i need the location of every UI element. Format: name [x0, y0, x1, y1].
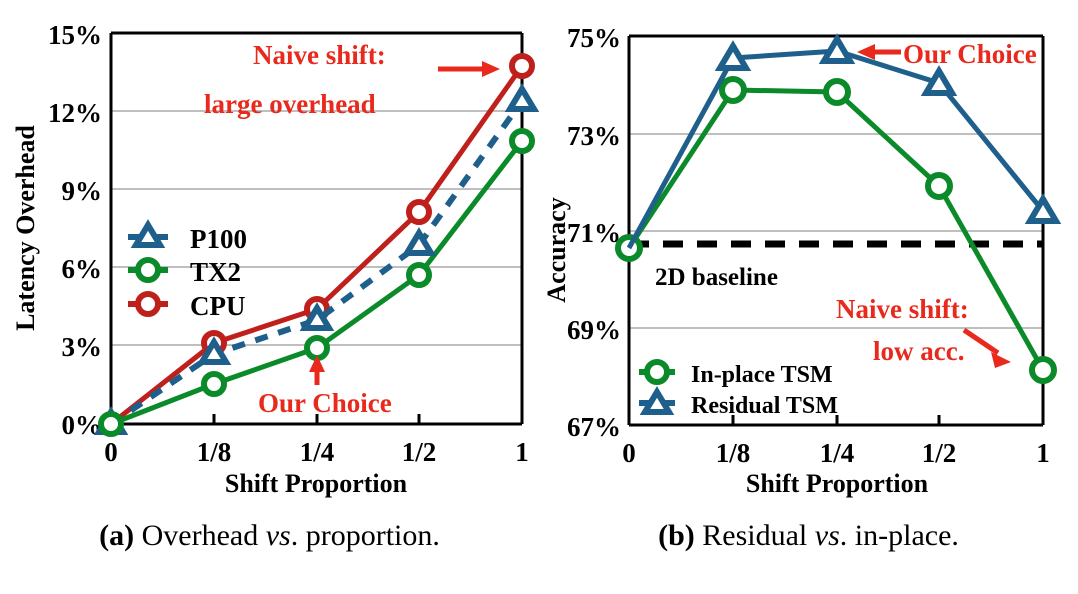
caption-a-text-1: Overhead — [142, 519, 259, 552]
x-tick-label: 1/4 — [820, 438, 855, 468]
chart-panel-b: 75% 73% 71% 69% 67% 0 1/8 1/4 1/2 1 Shif… — [539, 0, 1078, 594]
x-tick-label: 1/2 — [402, 437, 437, 467]
annotation-line-1: Our Choice — [903, 39, 1037, 69]
x-tick-label: 0 — [104, 437, 118, 467]
x-tick-label: 1/8 — [197, 437, 232, 467]
caption-b-vs: vs — [815, 519, 840, 552]
y-tick-labels-a: 15% 12% 9% 6% 3% 0% — [48, 20, 102, 440]
x-tick-labels-b: 0 1/8 1/4 1/2 1 — [622, 438, 1050, 468]
x-tick-label: 1 — [515, 437, 529, 467]
annotation-line-1: Naive shift: — [836, 294, 969, 324]
y-tick-label: 12% — [48, 98, 102, 128]
legend-b: In-place TSM Residual TSM — [639, 362, 838, 419]
data-point-tx2 — [512, 131, 532, 151]
legend-item-tx2: TX2 — [128, 257, 241, 287]
data-point-p100 — [510, 89, 534, 109]
legend-label-in-place-tsm: In-place TSM — [691, 362, 833, 388]
y-tick-label: 9% — [62, 176, 103, 206]
chart-panel-a: 15% 12% 9% 6% 3% 0% 0 1/8 1/4 1/2 1 Shif… — [0, 0, 539, 594]
data-point-tx2 — [409, 265, 429, 285]
annotation-line-1: Naive shift: — [253, 40, 386, 70]
annotation-naive-shift-acc: Naive shift: low acc. — [836, 294, 1011, 368]
data-point-in-place — [826, 81, 848, 103]
data-point-in-place — [722, 79, 744, 101]
legend-item-cpu: CPU — [128, 291, 246, 321]
data-point-tx2 — [101, 414, 121, 434]
data-point-residual — [926, 71, 952, 93]
x-axis-title-a: Shift Proportion — [225, 469, 408, 498]
y-tick-labels-b: 75% 73% 71% 69% 67% — [567, 23, 621, 442]
annotation-line-2: large overhead — [204, 89, 376, 119]
arrow-down-right-icon — [964, 330, 1011, 368]
y-tick-label: 75% — [567, 23, 621, 53]
y-tick-label: 3% — [62, 332, 103, 362]
legend-label-cpu: CPU — [190, 291, 246, 321]
chart-b-svg: 75% 73% 71% 69% 67% 0 1/8 1/4 1/2 1 Shif… — [539, 0, 1078, 510]
legend-label-residual-tsm: Residual TSM — [691, 393, 838, 419]
annotation-naive-shift-overhead: Naive shift: large overhead — [204, 40, 500, 119]
y-tick-label: 71% — [567, 218, 621, 248]
caption-b-text-2: . in-place. — [840, 519, 959, 552]
x-tick-label: 1/2 — [922, 438, 957, 468]
legend-item-in-place-tsm: In-place TSM — [639, 362, 833, 388]
y-tick-label: 6% — [62, 254, 103, 284]
caption-a-text-2: . proportion. — [291, 519, 440, 552]
y-tick-label: 73% — [567, 121, 621, 151]
y-tick-label: 0% — [62, 410, 103, 440]
legend-a: P100 TX2 CPU — [128, 224, 247, 321]
data-point-in-place — [1032, 359, 1054, 381]
y-tick-label: 15% — [48, 20, 102, 50]
annotation-line-1: Our Choice — [258, 388, 392, 418]
reference-line-label: 2D baseline — [655, 264, 778, 291]
series-residual-tsm — [629, 39, 1056, 248]
caption-b-label: (b) — [658, 519, 695, 552]
legend-item-residual-tsm: Residual TSM — [639, 392, 838, 419]
x-tick-label: 1/4 — [300, 437, 335, 467]
caption-a: (a) Overhead vs. proportion. — [0, 519, 539, 553]
arrow-right-icon — [438, 61, 500, 77]
chart-a-svg: 15% 12% 9% 6% 3% 0% 0 1/8 1/4 1/2 1 Shif… — [0, 0, 539, 510]
x-tick-label: 1/8 — [716, 438, 751, 468]
legend-label-tx2: TX2 — [190, 257, 241, 287]
y-tick-label: 69% — [567, 315, 621, 345]
data-point-cpu — [512, 56, 532, 76]
y-axis-title-a: Latency Overhead — [11, 125, 40, 331]
data-point-in-place — [928, 175, 950, 197]
data-point-residual — [824, 39, 850, 61]
y-axis-title-b: Accuracy — [542, 197, 571, 302]
data-point-tx2 — [204, 374, 224, 394]
x-axis-title-b: Shift Proportion — [746, 469, 929, 498]
reference-line-2d-baseline: 2D baseline — [629, 244, 1043, 291]
figure-root: 15% 12% 9% 6% 3% 0% 0 1/8 1/4 1/2 1 Shif… — [0, 0, 1078, 594]
caption-a-vs: vs — [266, 519, 291, 552]
caption-b-text-1: Residual — [702, 519, 807, 552]
legend-item-p100: P100 — [128, 224, 247, 254]
caption-b: (b) Residual vs. in-place. — [539, 519, 1078, 553]
data-point-residual — [720, 46, 746, 68]
caption-a-label: (a) — [99, 519, 134, 552]
x-tick-label: 0 — [622, 438, 636, 468]
annotation-line-2: low acc. — [873, 336, 964, 366]
x-tick-label: 1 — [1036, 438, 1050, 468]
y-tick-label: 67% — [567, 412, 621, 442]
annotation-our-choice-a: Our Choice — [258, 355, 392, 418]
data-point-cpu — [409, 202, 429, 222]
legend-label-p100: P100 — [190, 224, 247, 254]
x-tick-labels-a: 0 1/8 1/4 1/2 1 — [104, 437, 529, 467]
